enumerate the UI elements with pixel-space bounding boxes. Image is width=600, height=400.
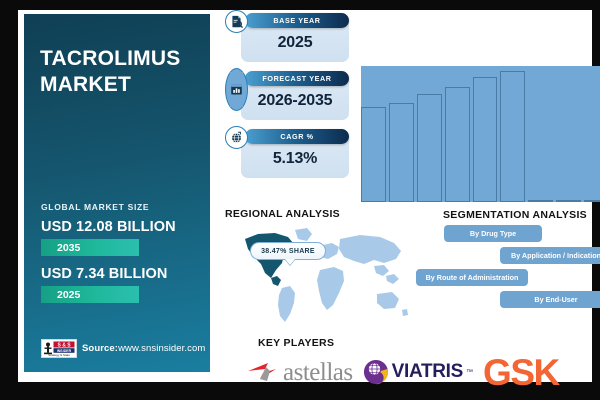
viatris-logo: VIATRIS ™ (363, 359, 473, 385)
kpi-card-cagr: CAGR % 5.13% (241, 132, 349, 178)
market-size-base-value: USD 7.34 BILLION (41, 266, 168, 282)
source-text: Source:www.snsinsider.com (82, 343, 205, 354)
world-map-svg (236, 224, 412, 328)
document-search-icon (225, 10, 248, 33)
kpi-card-forecast-year-value: 2026-2035 (241, 92, 349, 110)
segmentation-item-end-user: By End-User (500, 291, 600, 308)
market-size-base-year-badge: 2025 (41, 286, 139, 303)
world-map: 38.47% SHARE (236, 224, 412, 328)
page-title: TACROLIMUS MARKET (40, 46, 194, 97)
bar-chart-calendar-icon (225, 68, 248, 111)
bar-8 (556, 200, 581, 202)
sns-insider-logo: S & S INSIDER Strategy & Stats (41, 339, 77, 358)
bar-2 (389, 103, 414, 202)
infographic-canvas: TACROLIMUS MARKET GLOBAL MARKET SIZE USD… (18, 10, 592, 382)
bar-9 (584, 200, 600, 202)
bar-6 (500, 71, 525, 202)
gsk-logo: GSK (483, 354, 559, 391)
kpi-card-list: BASE YEAR 2025 FORECAST YEAR 2026-2035 (223, 16, 351, 190)
bar-5 (473, 77, 498, 202)
kpi-card-forecast-year: FORECAST YEAR 2026-2035 (241, 74, 349, 120)
kpi-card-forecast-year-label: FORECAST YEAR (245, 71, 349, 86)
source-prefix: Source: (82, 343, 118, 354)
source-row: S & S INSIDER Strategy & Stats Source:ww… (41, 339, 205, 358)
regional-analysis-title: REGIONAL ANALYSIS (225, 208, 340, 220)
viatris-globe-icon (363, 359, 389, 385)
left-summary-panel: TACROLIMUS MARKET GLOBAL MARKET SIZE USD… (24, 14, 210, 372)
market-size-forecast-value: USD 12.08 BILLION (41, 219, 176, 235)
infographic-frame: TACROLIMUS MARKET GLOBAL MARKET SIZE USD… (0, 0, 600, 400)
segmentation-item-drug-type: By Drug Type (444, 225, 542, 242)
bar-7 (528, 200, 553, 202)
kpi-card-base-year: BASE YEAR 2025 (241, 16, 349, 62)
regional-share-badge: 38.47% SHARE (250, 242, 326, 260)
viatris-trademark-symbol: ™ (466, 369, 473, 376)
globe-growth-icon-glyph (230, 131, 243, 144)
astellas-logo: astellas (246, 357, 353, 387)
kpi-card-cagr-value: 5.13% (241, 150, 349, 168)
document-search-icon-glyph (230, 15, 243, 28)
bar-3 (417, 94, 442, 202)
global-market-size-label: GLOBAL MARKET SIZE (41, 202, 149, 212)
source-url: www.snsinsider.com (118, 343, 205, 354)
astellas-star-icon (246, 357, 282, 387)
svg-text:INSIDER: INSIDER (57, 349, 72, 353)
market-size-forecast-year-badge: 2035 (41, 239, 139, 256)
kpi-card-cagr-label: CAGR % (245, 129, 349, 144)
svg-text:S & S: S & S (57, 343, 71, 349)
kpi-card-base-year-label: BASE YEAR (245, 13, 349, 28)
segmentation-item-application: By Application / Indication (500, 247, 600, 264)
globe-growth-icon (225, 126, 248, 149)
sns-insider-logo-glyph: S & S INSIDER Strategy & Stats (42, 340, 76, 357)
key-players-logo-list: astellas VIATRIS ™ GSK (246, 348, 600, 396)
bar-1 (361, 107, 386, 202)
svg-text:Strategy & Stats: Strategy & Stats (48, 353, 70, 357)
bar-chart-bars (361, 66, 600, 202)
segmentation-analysis-title: SEGMENTATION ANALYSIS (443, 209, 587, 221)
bar-chart-calendar-icon-glyph (230, 72, 243, 106)
market-trend-bar-chart (361, 26, 600, 202)
bar-4 (445, 87, 470, 202)
astellas-logo-text: astellas (283, 360, 353, 385)
kpi-card-base-year-value: 2025 (241, 34, 349, 52)
segmentation-list: By Drug Type By Application / Indication… (416, 225, 600, 308)
segmentation-item-route: By Route of Administration (416, 269, 528, 286)
viatris-logo-text: VIATRIS (392, 361, 463, 383)
